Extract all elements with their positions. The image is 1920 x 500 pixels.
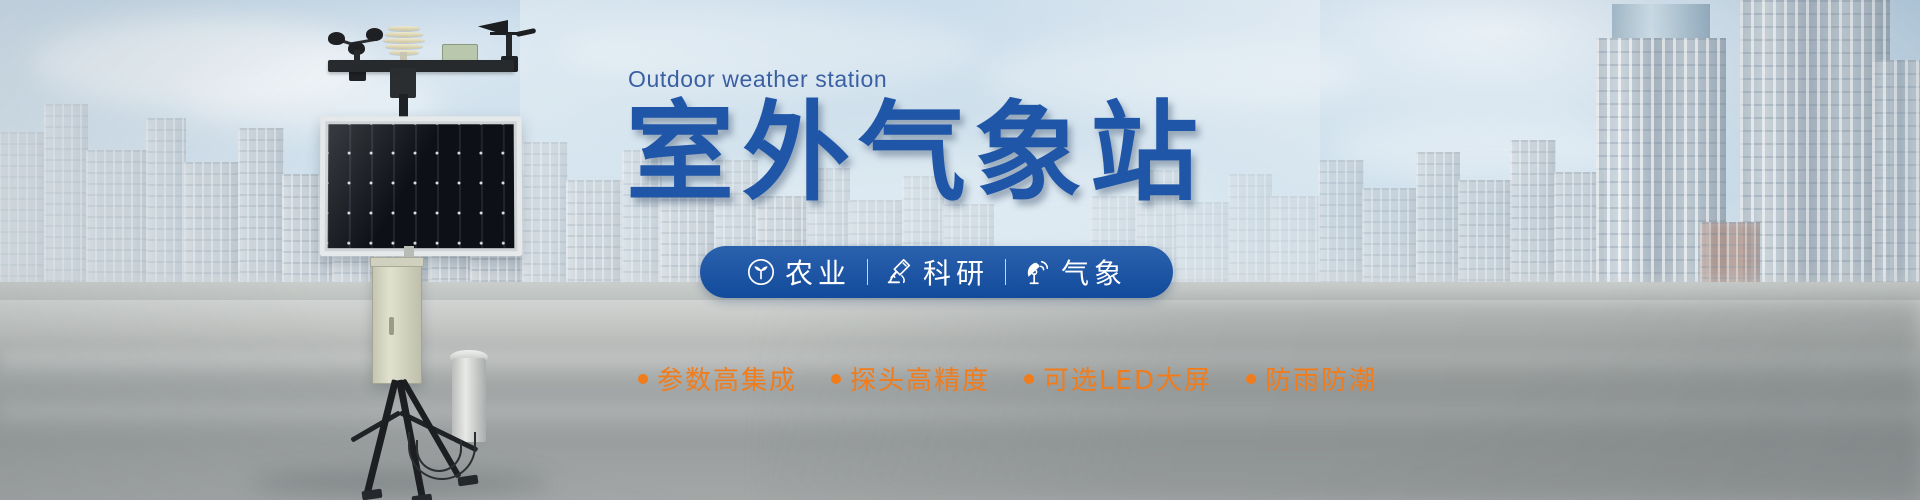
rain-gauge-body <box>452 358 486 442</box>
feature-label: 可选LED大屏 <box>1043 360 1212 397</box>
tripod-foot <box>457 475 478 487</box>
pill-item-research[interactable]: 科研 <box>868 252 1005 292</box>
feature-item: 探头高精度 <box>831 360 990 397</box>
eyebrow-subtitle: Outdoor weather station <box>628 66 887 93</box>
bullet-dot-icon <box>638 374 648 384</box>
bullet-dot-icon <box>1024 374 1034 384</box>
tripod-icon <box>363 379 399 499</box>
bullet-dot-icon <box>831 374 841 384</box>
application-pill: 农业 科研 <box>700 246 1173 298</box>
anemometer-cups-icon <box>328 26 384 64</box>
solar-panel-icon <box>320 116 523 256</box>
tripod-spreader <box>350 410 401 442</box>
banner-copy: Outdoor weather station 室外气象站 农业 <box>600 0 1360 500</box>
feature-item: 参数高集成 <box>638 360 797 397</box>
bullet-dot-icon <box>1246 374 1256 384</box>
promo-banner: Outdoor weather station 室外气象站 农业 <box>0 0 1920 500</box>
pill-item-agriculture[interactable]: 农业 <box>730 252 867 292</box>
enclosure-box-icon <box>372 262 422 384</box>
feature-label: 参数高集成 <box>657 360 797 397</box>
feature-list: 参数高集成 探头高精度 可选LED大屏 防雨防潮 <box>638 360 1377 397</box>
wind-vane-icon <box>478 18 536 62</box>
feature-label: 防雨防潮 <box>1265 360 1377 397</box>
page-title: 室外气象站 <box>626 96 1206 213</box>
microscope-icon <box>884 257 914 287</box>
sensor-crossbar <box>328 60 514 72</box>
skyscraper <box>1740 0 1890 300</box>
pill-label-agriculture: 农业 <box>785 252 851 292</box>
pill-item-meteorology[interactable]: 气象 <box>1006 252 1143 292</box>
weather-station-product <box>300 8 580 488</box>
pill-label-meteorology: 气象 <box>1061 252 1127 292</box>
sprout-in-circle-icon <box>746 257 776 287</box>
skyscraper <box>1872 60 1920 300</box>
feature-item: 防雨防潮 <box>1246 360 1377 397</box>
pill-label-research: 科研 <box>923 252 989 292</box>
feature-label: 探头高精度 <box>850 360 990 397</box>
satellite-dish-icon <box>1022 257 1052 287</box>
feature-item: 可选LED大屏 <box>1024 360 1212 397</box>
